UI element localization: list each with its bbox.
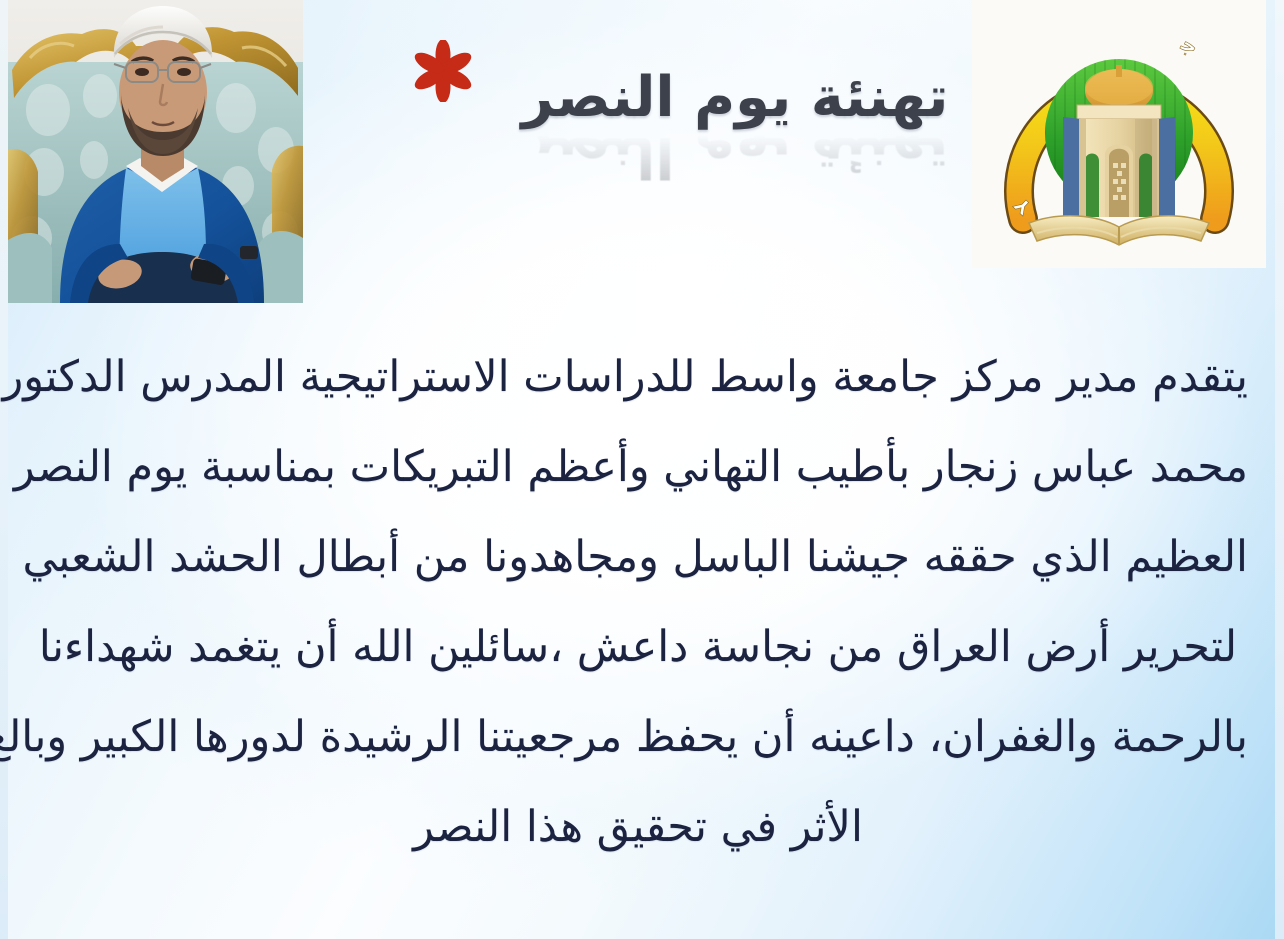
body-line-2: محمد عباس زنجار بأطيب التهاني وأعظم التب…: [28, 422, 1248, 512]
title-row: تهنئة يوم النصر تهنئة يوم النصر: [330, 22, 950, 192]
body-line-6: الأثر في تحقيق هذا النصر: [28, 782, 1248, 872]
body-text: يتقدم مدير مركز جامعة واسط للدراسات الاس…: [28, 332, 1248, 872]
page-title-reflection: تهنئة يوم النصر: [520, 128, 950, 184]
portrait-photo: [8, 0, 303, 303]
body-line-1: يتقدم مدير مركز جامعة واسط للدراسات الاس…: [28, 332, 1248, 422]
title-wrap: تهنئة يوم النصر تهنئة يوم النصر: [520, 70, 950, 184]
body-line-5: بالرحمة والغفران، داعينه أن يحفظ مرجعيتن…: [28, 692, 1248, 782]
wasit-university-logo: WASIT UNIVERSITY جامعة واسط: [972, 0, 1266, 268]
right-edge-strip: [1275, 0, 1284, 939]
body-line-4: لتحرير أرض العراق من نجاسة داعش ،سائلين …: [28, 602, 1248, 692]
body-line-3: العظيم الذي حققه جيشنا الباسل ومجاهدونا …: [28, 512, 1248, 602]
congratulation-slide: تهنئة يوم النصر تهنئة يوم النصر: [0, 0, 1284, 939]
page-title: تهنئة يوم النصر: [520, 70, 950, 126]
asterisk-icon: [412, 40, 474, 102]
